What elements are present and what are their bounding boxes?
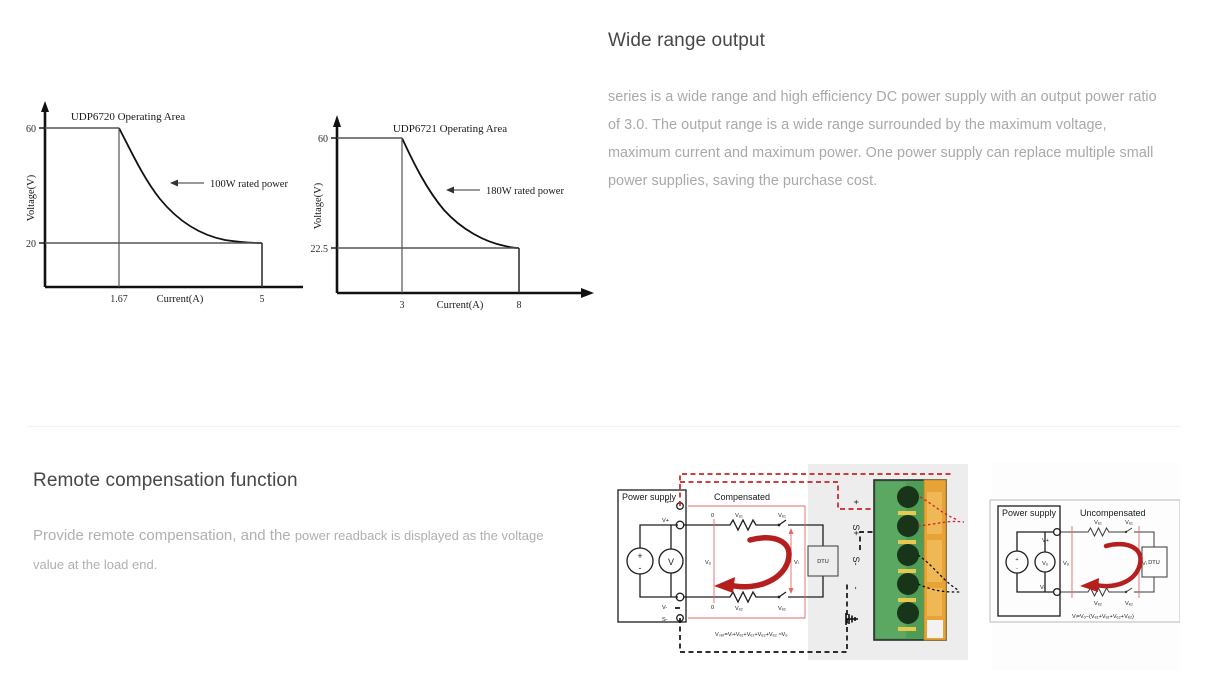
ytick-label-60: 60 (26, 124, 36, 135)
right-vc1-label: Vₑ₁ (1125, 520, 1133, 526)
xtick-label-8: 8 (517, 300, 522, 311)
left-vc2-label: Vₑ₂ (778, 606, 786, 612)
housing-slot-3 (927, 588, 942, 616)
right-panel-bg (992, 462, 1180, 670)
screw-terminal-3 (897, 544, 919, 566)
chart-title: UDP6721 Operating Area (393, 123, 507, 135)
annotation-arrowhead (170, 180, 178, 187)
pad-4 (898, 598, 916, 602)
x-axis-arrowhead (581, 288, 594, 298)
connector-label-plus: + (851, 499, 861, 504)
left-dtu-label: DTU (817, 559, 829, 565)
chart-title: UDP6720 Operating Area (71, 111, 185, 123)
xtick-label-1p67: 1.67 (110, 294, 128, 305)
right-formula: Vₗ=Vₒ−(Vₑ₁+Vₑ₁+Vₑ₂+Vₑ₂) (1072, 614, 1134, 620)
y-axis-label: Voltage(V) (26, 174, 37, 221)
left-node-zero-top: 0 (711, 513, 714, 519)
ytick-label-22p5: 22.5 (311, 244, 329, 255)
pad-3 (898, 569, 916, 573)
remote-compensation-body: Provide remote compensation, and the pow… (33, 521, 578, 579)
right-vl-label: Vₗ (1142, 561, 1147, 567)
remote-compensation-diagram-svg: .dtxt { font-family: "Liberation Sans", … (602, 462, 1180, 670)
ytick-label-20: 20 (26, 239, 36, 250)
left-voltmeter-label: V (668, 557, 674, 567)
left-switch-top-pivot (778, 524, 781, 527)
left-source-plus: + (637, 551, 642, 561)
operating-area-charts: UDP6720 Operating Area 60 20 Voltage(V) … (0, 0, 600, 400)
connector-label-s-minus: S- (851, 557, 861, 566)
wide-range-title: Wide range output (608, 30, 1168, 53)
housing-slot-2 (927, 540, 942, 582)
right-vc2-label: Vₑ₂ (1125, 601, 1133, 607)
left-vo-label: Vₒ (705, 560, 711, 566)
remote-compensation-body-lead: Provide remote compensation, and the (33, 527, 295, 544)
annotation-label: 100W rated power (210, 179, 288, 190)
left-node-zero-bot: 0 (711, 605, 714, 611)
wide-range-output-section: Wide range output series is a wide range… (608, 30, 1168, 195)
right-voltmeter-label: Vₒ (1042, 561, 1048, 567)
page-root: UDP6720 Operating Area 60 20 Voltage(V) … (0, 0, 1214, 692)
ytick-label-60: 60 (318, 134, 328, 145)
x-axis-label: Current(A) (157, 294, 204, 305)
compensated-label: Compensated (714, 492, 770, 502)
screw-terminal-5 (897, 602, 919, 624)
left-switch-bot-pivot (778, 596, 781, 599)
chart-udp6720: UDP6720 Operating Area 60 20 Voltage(V) … (20, 95, 305, 310)
annotation-label: 180W rated power (486, 186, 564, 197)
xtick-label-5: 5 (260, 294, 265, 305)
xtick-label-3: 3 (400, 300, 405, 311)
terminal-v-plus-label: V+ (662, 518, 669, 524)
left-vl-label: Vₗ (794, 560, 799, 566)
housing-end-cap (927, 620, 943, 638)
left-vw2-label: Vₑ₂ (735, 606, 743, 612)
wide-range-body: series is a wide range and high efficien… (608, 83, 1168, 195)
terminal-s-plus-label: S+ (665, 499, 672, 505)
chart-udp6721-svg: UDP6721 Operating Area 60 22.5 Voltage(V… (305, 108, 600, 313)
right-switch-top-pivot (1125, 531, 1127, 533)
connector-label-s-plus: S+ (851, 524, 861, 535)
connector-label-minus: - (851, 587, 861, 590)
screw-terminal-1 (897, 486, 919, 508)
right-vo-label: Vₒ (1063, 561, 1069, 567)
left-vw1-label: Vₑ₁ (735, 513, 743, 519)
left-vc1-label: Vₑ₁ (778, 513, 786, 519)
terminal-s-minus-label: S- (662, 617, 668, 623)
annotation-arrowhead (446, 187, 454, 194)
remote-compensation-title: Remote compensation function (33, 470, 578, 493)
right-power-supply-label: Power supply (1002, 508, 1057, 518)
left-formula: Vₛₑₜ=Vₗ+Vₑ₁+Vₑ₁+Vₑ₂+Vₑ₂ ≈Vₒ (715, 632, 787, 638)
y-axis-arrowhead (333, 115, 341, 127)
y-axis-label: Voltage(V) (313, 182, 324, 229)
pad-2 (898, 540, 916, 544)
chart-udp6721: UDP6721 Operating Area 60 22.5 Voltage(V… (305, 108, 600, 313)
remote-compensation-section: Remote compensation function Provide rem… (33, 470, 578, 579)
pad-5 (898, 627, 916, 631)
right-vw1-label: Vₑ₁ (1094, 520, 1102, 526)
left-source-minus: - (639, 563, 642, 573)
pad-1 (898, 511, 916, 515)
section-divider (27, 426, 1180, 427)
remote-compensation-diagram: .dtxt { font-family: "Liberation Sans", … (602, 462, 1180, 670)
chart-udp6720-svg: UDP6720 Operating Area 60 20 Voltage(V) … (20, 95, 305, 310)
right-switch-bot-pivot (1125, 591, 1127, 593)
uncompensated-label: Uncompensated (1080, 508, 1146, 518)
right-source-minus: - (1016, 566, 1018, 572)
right-terminal-v-plus-label: V+ (1042, 538, 1049, 544)
right-dtu-label: DTU (1148, 560, 1160, 566)
right-terminal-v-minus-label: V- (1040, 585, 1045, 591)
right-source-plus: + (1015, 557, 1018, 563)
terminal-v-minus-label: V- (662, 605, 667, 611)
y-axis-arrowhead (41, 101, 49, 112)
x-axis-label: Current(A) (437, 300, 484, 311)
right-vw2-label: Vₑ₂ (1094, 601, 1102, 607)
screw-terminal-4 (897, 573, 919, 595)
housing-slot-1 (927, 492, 942, 534)
screw-terminal-2 (897, 515, 919, 537)
